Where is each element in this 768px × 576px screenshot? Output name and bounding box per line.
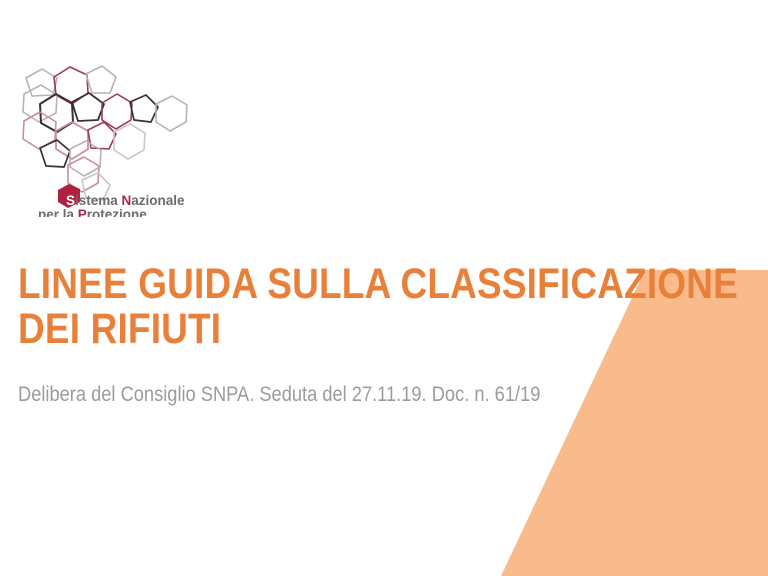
title-slide: Sistema Nazionale per la Protezione dell… <box>0 0 768 576</box>
svg-text:per la Protezione: per la Protezione <box>38 207 147 217</box>
subtitle: Delibera del Consiglio SNPA. Seduta del … <box>18 383 540 407</box>
snpa-logo: Sistema Nazionale per la Protezione dell… <box>10 47 240 217</box>
title-line-1: LINEE GUIDA SULLA CLASSIFICAZIONE <box>18 262 568 307</box>
snpa-logo-mark: Sistema Nazionale per la Protezione dell… <box>10 47 240 217</box>
svg-text:Sistema Nazionale: Sistema Nazionale <box>66 193 185 208</box>
title-line-2: DEI RIFIUTI <box>18 307 568 352</box>
page-title: LINEE GUIDA SULLA CLASSIFICAZIONE DEI RI… <box>18 262 658 352</box>
